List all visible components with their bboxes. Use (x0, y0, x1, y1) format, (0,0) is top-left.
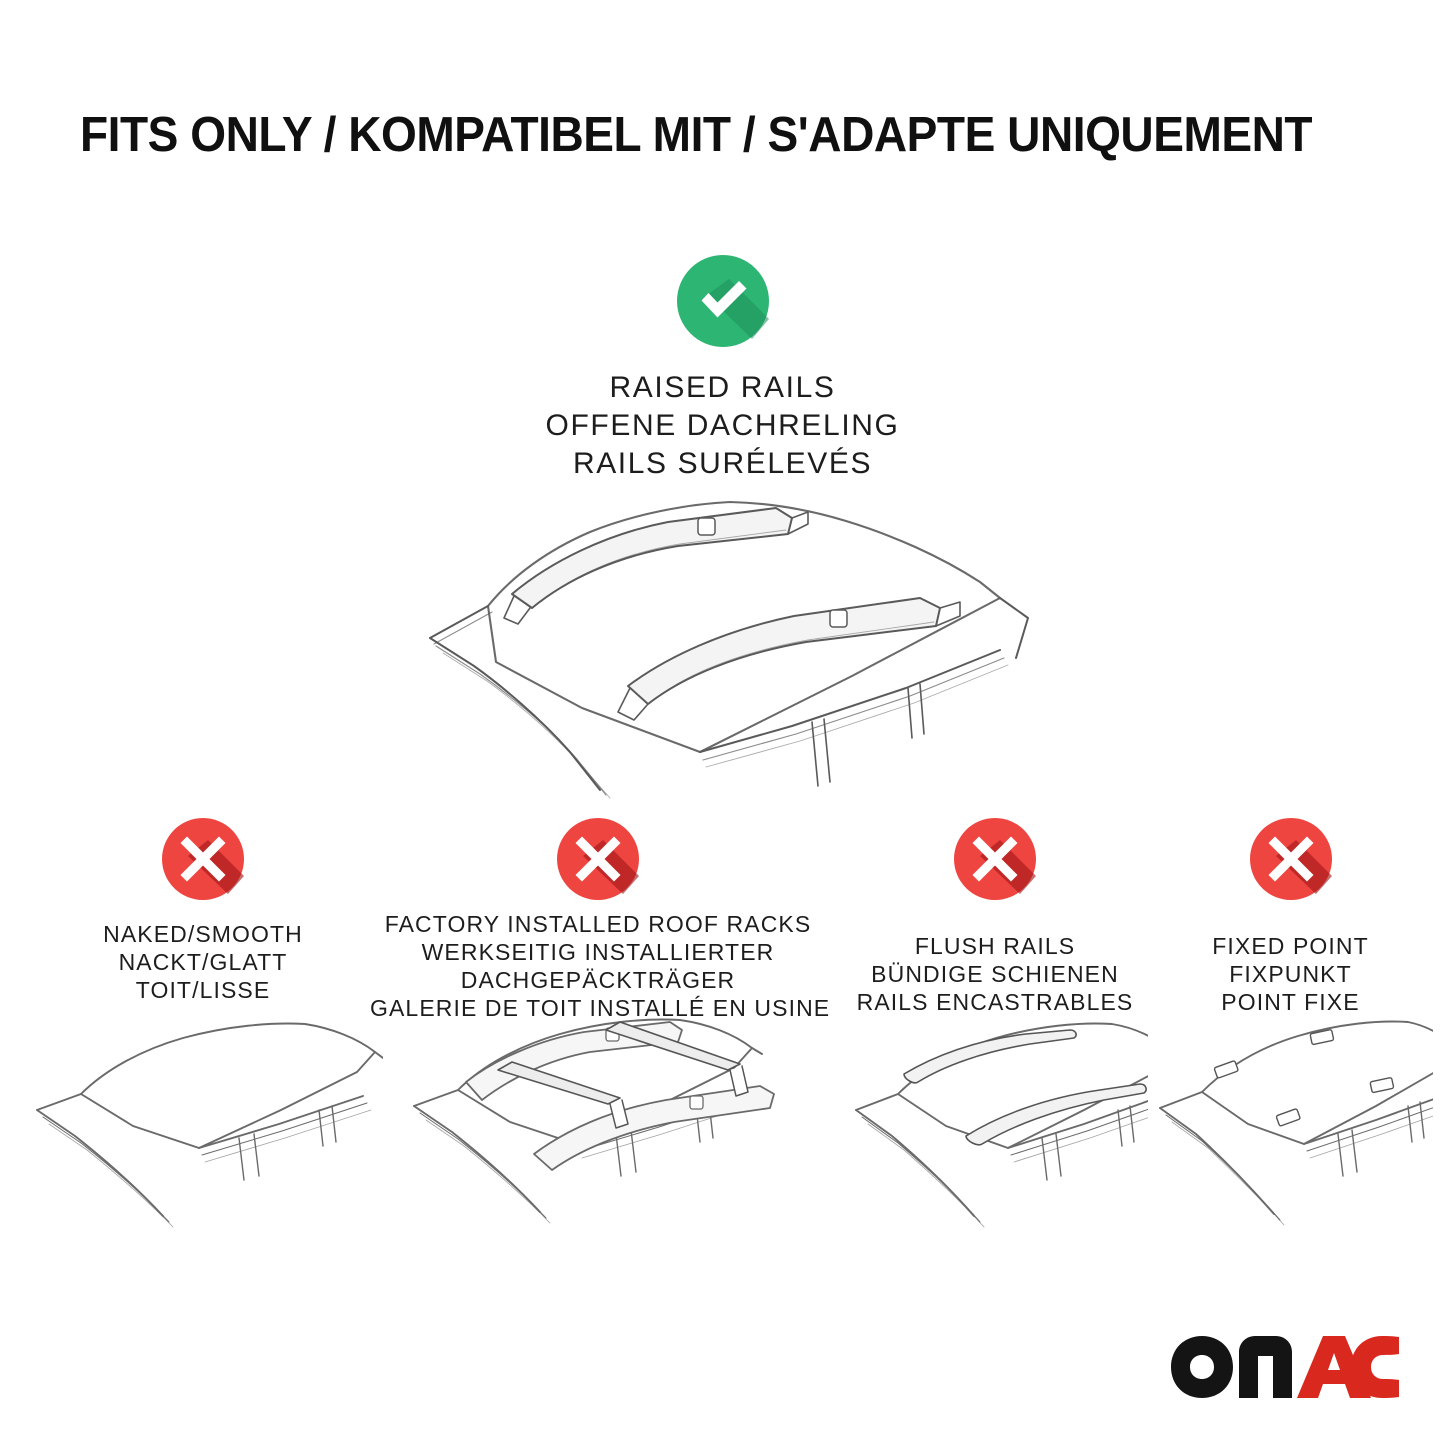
red-x-circle-icon (557, 818, 639, 900)
caption-line-de: BÜNDIGE SCHIENEN (842, 960, 1148, 988)
car-roof-flush-rails-art (842, 1014, 1148, 1234)
car-roof-factory-racks-art (370, 1004, 826, 1234)
caption-line-en: FLUSH RAILS (842, 932, 1148, 960)
incompatible-item-fixed-point: FIXED POINT FIXPUNKT POINT FIXE (1148, 818, 1433, 1016)
compatibility-infographic: FITS ONLY / KOMPATIBEL MIT / S'ADAPTE UN… (0, 0, 1445, 1445)
incompatible-item-flush-rails: FLUSH RAILS BÜNDIGE SCHIENEN RAILS ENCAS… (842, 818, 1148, 1016)
compatible-section: RAISED RAILS OFFENE DACHRELING RAILS SUR… (0, 255, 1445, 483)
car-roof-fixed-point-art (1148, 1014, 1433, 1234)
incompatible-section: NAKED/SMOOTH NACKT/GLATT TOIT/LISSE (0, 818, 1445, 1248)
incompatible-item-naked-smooth: NAKED/SMOOTH NACKT/GLATT TOIT/LISSE (23, 818, 383, 1004)
green-check-circle-icon (677, 255, 769, 347)
red-x-circle-icon (1250, 818, 1332, 900)
omac-logo (1169, 1334, 1401, 1400)
compatible-line-fr: RAILS SURÉLEVÉS (0, 445, 1445, 483)
red-x-circle-icon (162, 818, 244, 900)
caption-line-de-2: DACHGEPÄCKTRÄGER (370, 966, 826, 994)
caption-line-fr: TOIT/LISSE (23, 976, 383, 1004)
incompatible-caption-naked-smooth: NAKED/SMOOTH NACKT/GLATT TOIT/LISSE (23, 920, 383, 1004)
red-x-circle-icon (954, 818, 1036, 900)
incompatible-caption-fixed-point: FIXED POINT FIXPUNKT POINT FIXE (1148, 932, 1433, 1016)
caption-line-en: NAKED/SMOOTH (23, 920, 383, 948)
car-roof-raised-rails-art (400, 490, 1040, 800)
incompatible-item-factory-roof-racks: FACTORY INSTALLED ROOF RACKS WERKSEITIG … (370, 818, 826, 1022)
caption-line-fr: RAILS ENCASTRABLES (842, 988, 1148, 1016)
incompatible-caption-flush-rails: FLUSH RAILS BÜNDIGE SCHIENEN RAILS ENCAS… (842, 932, 1148, 1016)
car-roof-naked-art (23, 1014, 383, 1234)
caption-line-en: FIXED POINT (1148, 932, 1433, 960)
caption-line-de: FIXPUNKT (1148, 960, 1433, 988)
compatible-line-de: OFFENE DACHRELING (0, 407, 1445, 445)
caption-line-fr: POINT FIXE (1148, 988, 1433, 1016)
page-title: FITS ONLY / KOMPATIBEL MIT / S'ADAPTE UN… (80, 107, 1293, 163)
compatible-line-en: RAISED RAILS (0, 369, 1445, 407)
caption-line-de-1: WERKSEITIG INSTALLIERTER (370, 938, 826, 966)
compatible-caption: RAISED RAILS OFFENE DACHRELING RAILS SUR… (0, 369, 1445, 483)
caption-line-de: NACKT/GLATT (23, 948, 383, 976)
caption-line-en: FACTORY INSTALLED ROOF RACKS (370, 910, 826, 938)
